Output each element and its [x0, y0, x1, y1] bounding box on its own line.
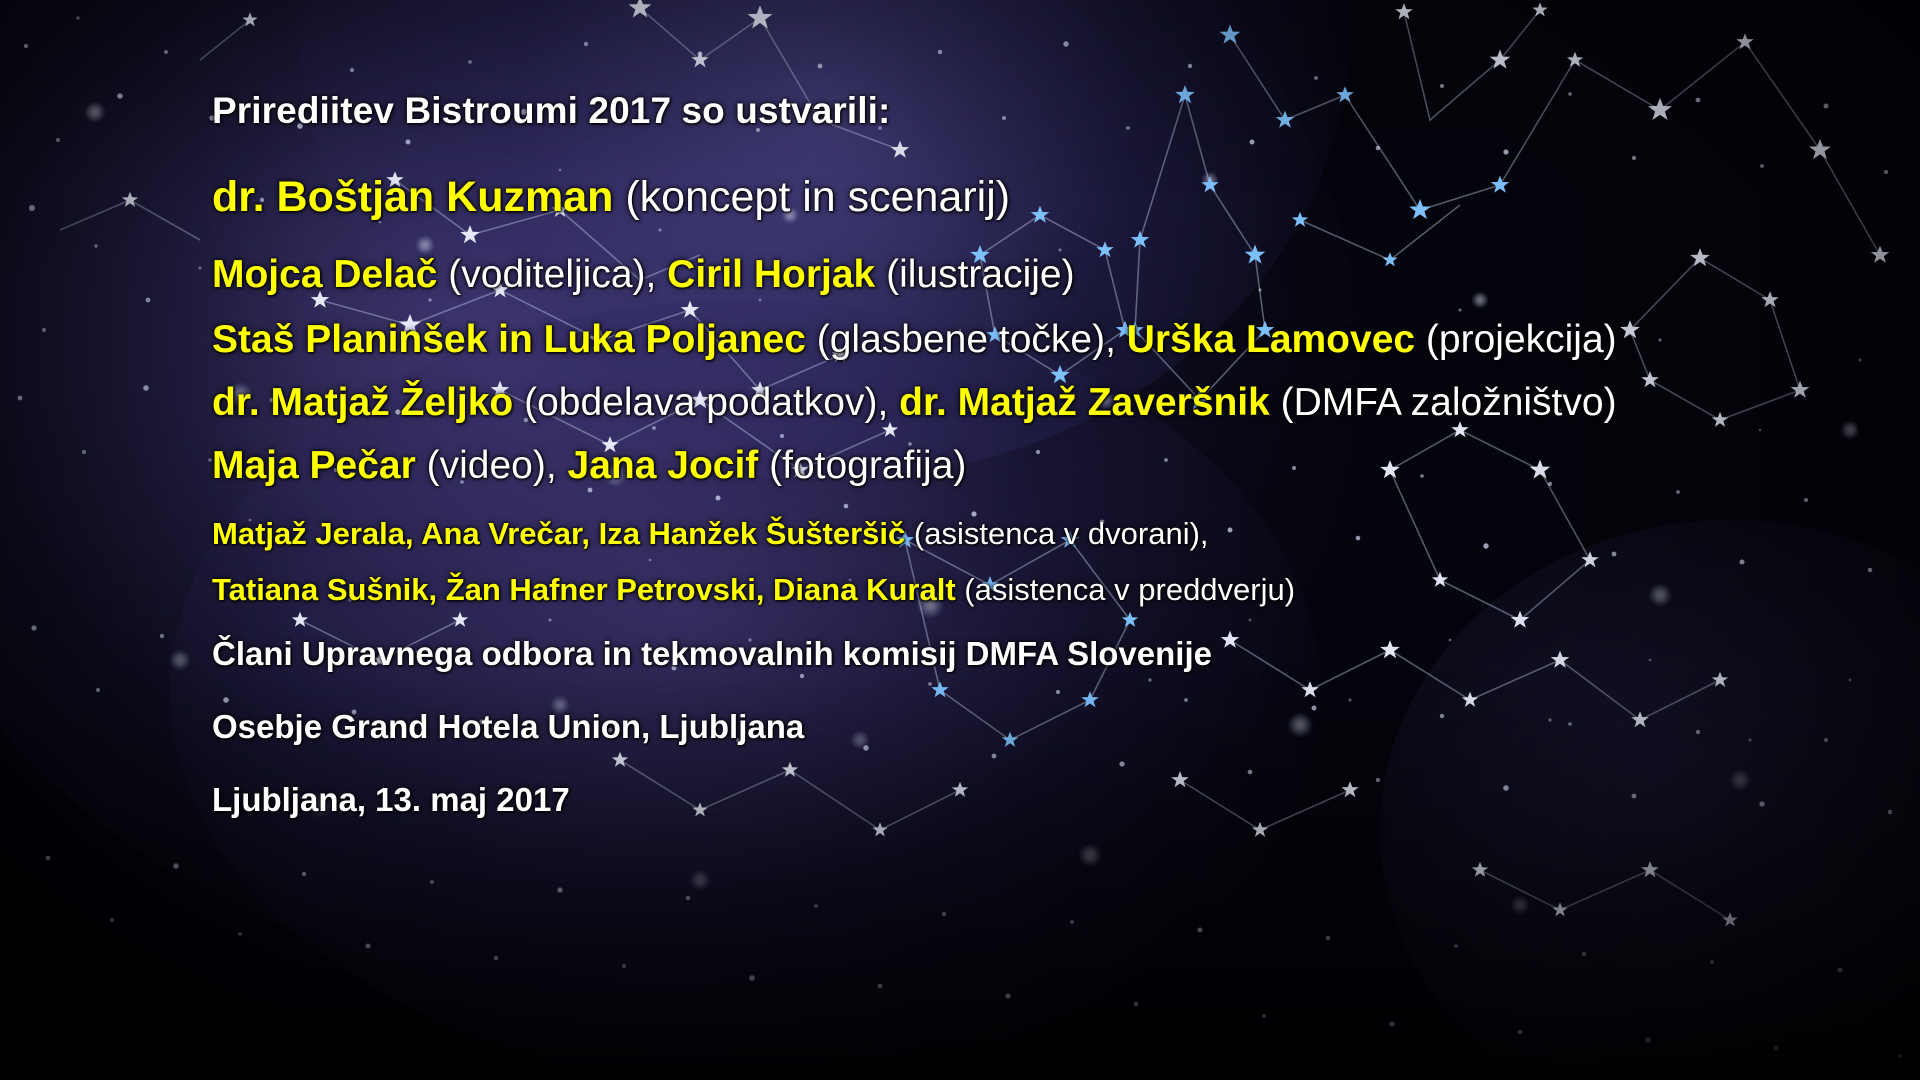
assistants-row: Tatiana Sušnik, Žan Hafner Petrovski, Di…	[212, 567, 1832, 613]
credit-role: (asistenca v dvorani),	[905, 516, 1208, 551]
credit-name: Jana Jocif	[568, 444, 759, 487]
footer-line-venue: Osebje Grand Hotela Union, Ljubljana	[212, 704, 1832, 750]
credit-name: dr. Boštjan Kuzman	[212, 173, 613, 221]
credits-row: Mojca Delač (voditeljica), Ciril Horjak …	[212, 248, 1832, 302]
credits-row: Maja Pečar (video), Jana Jocif (fotograf…	[212, 439, 1832, 493]
credit-role: (glasbene točke),	[806, 318, 1127, 361]
credits-row: dr. Matjaž Željko (obdelava podatkov), d…	[212, 376, 1832, 430]
credits-heading: Prirediitev Bistroumi 2017 so ustvarili:	[212, 86, 1832, 136]
credit-role: (koncept in scenarij)	[613, 173, 1010, 221]
credit-name: Staš Planinšek in Luka Poljanec	[212, 318, 806, 361]
footer-line-date: Ljubljana, 13. maj 2017	[212, 777, 1832, 823]
credit-role: (ilustracije)	[875, 253, 1074, 296]
credits-text-block: Prirediitev Bistroumi 2017 so ustvarili:…	[212, 86, 1832, 850]
credit-role: (voditeljica),	[437, 253, 667, 296]
credits-lead-line: dr. Boštjan Kuzman (koncept in scenarij)	[212, 169, 1832, 225]
credit-name: Urška Lamovec	[1127, 318, 1415, 361]
credit-role: (obdelava podatkov),	[513, 381, 899, 424]
credits-row: Staš Planinšek in Luka Poljanec (glasben…	[212, 313, 1832, 367]
credit-name: dr. Matjaž Željko	[212, 381, 513, 424]
credit-role: (fotografija)	[758, 444, 966, 487]
credit-role: (asistenca v preddverju)	[956, 572, 1295, 607]
credit-name: Tatiana Sušnik, Žan Hafner Petrovski, Di…	[212, 572, 956, 607]
credit-name: Matjaž Jerala, Ana Vrečar, Iza Hanžek Šu…	[212, 516, 905, 551]
credit-role: (video),	[416, 444, 568, 487]
credit-role: (DMFA založništvo)	[1270, 381, 1617, 424]
footer-line-organisation: Člani Upravnega odbora in tekmovalnih ko…	[212, 631, 1832, 677]
credit-name: Maja Pečar	[212, 444, 416, 487]
credit-name: Ciril Horjak	[667, 253, 875, 296]
assistants-row: Matjaž Jerala, Ana Vrečar, Iza Hanžek Šu…	[212, 511, 1832, 557]
credit-name: Mojca Delač	[212, 253, 437, 296]
credit-name: dr. Matjaž Zaveršnik	[899, 381, 1270, 424]
credits-slide: Prirediitev Bistroumi 2017 so ustvarili:…	[0, 0, 1920, 1080]
credit-role: (projekcija)	[1415, 318, 1617, 361]
